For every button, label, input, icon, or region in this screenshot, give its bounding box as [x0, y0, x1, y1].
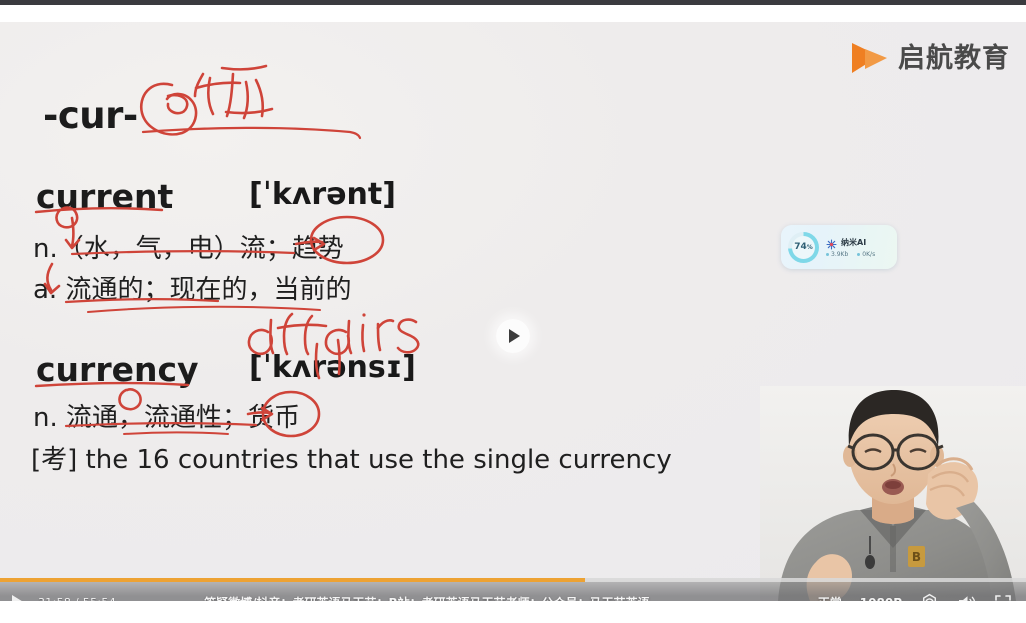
- ai-stat-item: 0K/s: [857, 251, 875, 258]
- quality-button[interactable]: 1080P: [860, 596, 902, 602]
- ai-progress-ring: 74%: [788, 232, 819, 263]
- ai-stat-dot-icon: [826, 253, 829, 256]
- brand-logo-text: 启航教育: [898, 45, 1010, 72]
- time-display: 31:58 / 55:54: [38, 596, 116, 601]
- control-row: 31:58 / 55:54 答疑微博/抖音：考研英语马天艺；B站：考研英语马天艺…: [0, 582, 1026, 601]
- video-player-page: -cur- current [ˈkʌrənt] n.（水，气，电）流；趋势 a.…: [0, 0, 1026, 623]
- speaker-icon[interactable]: [957, 594, 976, 601]
- nano-ai-widget[interactable]: 74% 纳米AI: [781, 225, 897, 269]
- word-currency: currency: [36, 350, 199, 389]
- control-right-group: 正常 1080P: [818, 593, 1026, 601]
- ai-percent-value: 74: [794, 242, 807, 252]
- playback-speed-button[interactable]: 正常: [818, 594, 842, 601]
- ai-brand-label: 纳米AI: [841, 237, 866, 248]
- ai-stat-dot-icon: [857, 253, 860, 256]
- play-circle-icon: [509, 329, 520, 343]
- nano-ai-logo-icon: [826, 237, 837, 248]
- instructor-video-feed: B: [760, 386, 1026, 601]
- center-play-button[interactable]: [496, 319, 530, 353]
- ai-widget-info: 纳米AI 3.9Kb 0K/s: [826, 237, 875, 258]
- phonetic-current: [ˈkʌrənt]: [249, 177, 396, 212]
- definition-current-a: a. 流通的；现在的，当前的: [33, 269, 351, 306]
- ai-stat-item: 3.9Kb: [826, 251, 848, 258]
- definition-currency-n: n. 流通，流通性；货币: [33, 397, 300, 434]
- play-triangle-icon[interactable]: [12, 595, 25, 602]
- ai-brand-row: 纳米AI: [826, 237, 875, 248]
- bottom-white-area: [0, 601, 1026, 623]
- phonetic-currency: [ˈkʌrənsɪ]: [249, 350, 416, 385]
- player-control-bar[interactable]: 31:58 / 55:54 答疑微博/抖音：考研英语马天艺；B站：考研英语马天艺…: [0, 578, 1026, 601]
- top-white-gap: [0, 5, 1026, 22]
- sail-arrow-icon: [849, 40, 889, 76]
- gear-icon[interactable]: [920, 593, 939, 601]
- definition-current-n: n.（水，气，电）流；趋势: [33, 228, 344, 265]
- ai-stat-label: 3.9Kb: [831, 251, 848, 258]
- example-sentence: [考] the 16 countries that use the single…: [31, 439, 672, 476]
- word-current: current: [36, 177, 173, 216]
- watermark-text: 答疑微博/抖音：考研英语马天艺；B站：考研英语马天艺老师；公众号：马天艺英语: [204, 594, 650, 601]
- ai-stat-label: 0K/s: [862, 251, 875, 258]
- fullscreen-icon[interactable]: [994, 594, 1012, 602]
- root-title: -cur-: [43, 94, 138, 137]
- ai-stats-row: 3.9Kb 0K/s: [826, 251, 875, 258]
- brand-logo: 启航教育: [849, 40, 1010, 76]
- ai-percent-suffix: %: [807, 244, 813, 251]
- svg-text:B: B: [912, 550, 921, 564]
- control-center-group: 答疑微博/抖音：考研英语马天艺；B站：考研英语马天艺老师；公众号：马天艺英语: [116, 594, 818, 601]
- ai-percent-label: 74%: [788, 232, 819, 263]
- video-stage[interactable]: -cur- current [ˈkʌrənt] n.（水，气，电）流；趋势 a.…: [0, 22, 1026, 601]
- control-left-group: 31:58 / 55:54: [0, 595, 116, 602]
